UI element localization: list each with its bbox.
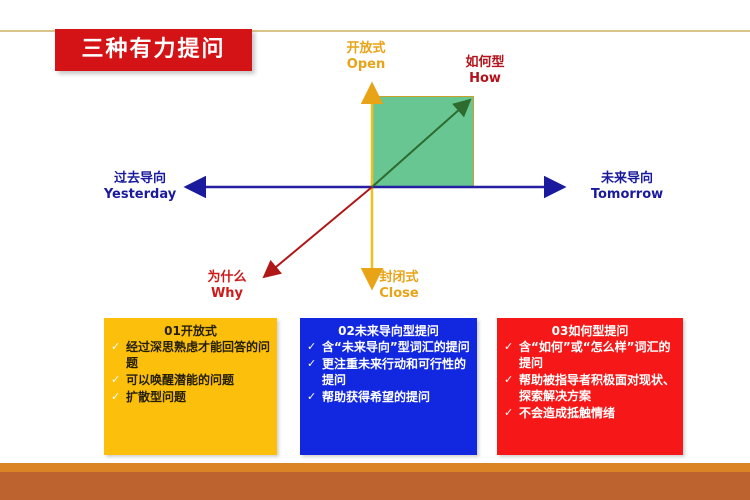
- list-item-text: 更注重未来行动和可行性的提问: [322, 357, 466, 387]
- list-item-text: 经过深思熟虑才能回答的问题: [126, 340, 270, 370]
- info-box-how: 03如何型提问 ✓ 含“如何”或“怎么样”词汇的提问 ✓ 帮助被指导者积极面对现…: [497, 318, 683, 455]
- how-vector-arrow: [372, 100, 470, 187]
- label-close-cn: 封闭式: [355, 270, 443, 286]
- label-open-cn: 开放式: [322, 41, 410, 57]
- list-item: ✓ 帮助获得希望的提问: [307, 390, 470, 406]
- slide-canvas: 三种有力提问: [0, 0, 750, 500]
- info-box-future: 02未来导向型提问 ✓ 含“未来导向”型词汇的提问 ✓ 更注重未来行动和可行性的…: [300, 318, 477, 455]
- bottom-footer-bar: [0, 472, 750, 500]
- label-tomorrow-en: Tomorrow: [569, 187, 685, 203]
- list-item: ✓ 更注重未来行动和可行性的提问: [307, 357, 470, 389]
- list-item-text: 不会造成抵触情绪: [519, 406, 615, 420]
- label-close: 封闭式 Close: [355, 270, 443, 303]
- check-icon: ✓: [111, 390, 120, 405]
- list-item: ✓ 可以唤醒潜能的问题: [111, 373, 270, 389]
- info-box-how-title: 03如何型提问: [504, 324, 676, 338]
- check-icon: ✓: [307, 390, 316, 405]
- bottom-accent-bar: [0, 463, 750, 472]
- label-close-en: Close: [355, 286, 443, 302]
- info-box-how-list: ✓ 含“如何”或“怎么样”词汇的提问 ✓ 帮助被指导者积极面对现状、探索解决方案…: [504, 340, 676, 422]
- check-icon: ✓: [307, 357, 316, 372]
- list-item: ✓ 经过深思熟虑才能回答的问题: [111, 340, 270, 372]
- info-box-open-list: ✓ 经过深思熟虑才能回答的问题 ✓ 可以唤醒潜能的问题 ✓ 扩散型问题: [111, 340, 270, 406]
- label-why-cn: 为什么: [185, 270, 269, 286]
- list-item: ✓ 帮助被指导者积极面对现状、探索解决方案: [504, 373, 676, 405]
- list-item-text: 可以唤醒潜能的问题: [126, 373, 234, 387]
- label-why: 为什么 Why: [185, 270, 269, 303]
- list-item-text: 含“如何”或“怎么样”词汇的提问: [519, 340, 671, 370]
- label-open: 开放式 Open: [322, 41, 410, 74]
- list-item-text: 含“未来导向”型词汇的提问: [322, 340, 470, 354]
- check-icon: ✓: [307, 340, 316, 355]
- list-item: ✓ 含“未来导向”型词汇的提问: [307, 340, 470, 356]
- label-how: 如何型 How: [441, 55, 529, 88]
- label-open-en: Open: [322, 57, 410, 73]
- label-how-en: How: [441, 71, 529, 87]
- list-item: ✓ 不会造成抵触情绪: [504, 406, 676, 422]
- check-icon: ✓: [504, 406, 513, 421]
- info-box-open-title: 01开放式: [111, 324, 270, 338]
- check-icon: ✓: [111, 340, 120, 355]
- label-yesterday-cn: 过去导向: [86, 171, 194, 187]
- quadrant-diagram: 开放式 Open 封闭式 Close 过去导向 Yesterday 未来导向 T…: [0, 0, 750, 320]
- info-box-open: 01开放式 ✓ 经过深思熟虑才能回答的问题 ✓ 可以唤醒潜能的问题 ✓ 扩散型问…: [104, 318, 277, 455]
- check-icon: ✓: [504, 373, 513, 388]
- check-icon: ✓: [504, 340, 513, 355]
- label-how-cn: 如何型: [441, 55, 529, 71]
- list-item-text: 扩散型问题: [126, 390, 186, 404]
- info-box-future-title: 02未来导向型提问: [307, 324, 470, 338]
- list-item: ✓ 扩散型问题: [111, 390, 270, 406]
- check-icon: ✓: [111, 373, 120, 388]
- list-item-text: 帮助获得希望的提问: [322, 390, 430, 404]
- list-item: ✓ 含“如何”或“怎么样”词汇的提问: [504, 340, 676, 372]
- label-why-en: Why: [185, 286, 269, 302]
- label-yesterday: 过去导向 Yesterday: [86, 171, 194, 204]
- why-vector-arrow: [264, 187, 372, 277]
- label-yesterday-en: Yesterday: [86, 187, 194, 203]
- list-item-text: 帮助被指导者积极面对现状、探索解决方案: [519, 373, 675, 403]
- label-tomorrow-cn: 未来导向: [569, 171, 685, 187]
- label-tomorrow: 未来导向 Tomorrow: [569, 171, 685, 204]
- info-box-future-list: ✓ 含“未来导向”型词汇的提问 ✓ 更注重未来行动和可行性的提问 ✓ 帮助获得希…: [307, 340, 470, 406]
- info-box-row: 01开放式 ✓ 经过深思熟虑才能回答的问题 ✓ 可以唤醒潜能的问题 ✓ 扩散型问…: [0, 318, 750, 458]
